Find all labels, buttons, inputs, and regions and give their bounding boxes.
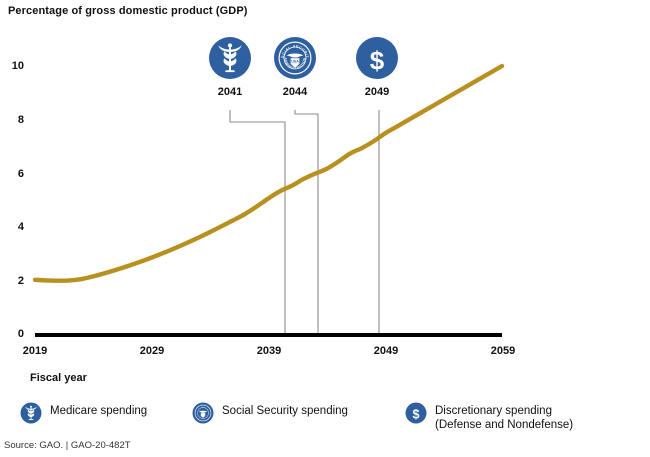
chart-legend: Medicare spending Social Security spendi… bbox=[20, 402, 640, 438]
callout-year-2044: 2044 bbox=[265, 86, 325, 98]
line-chart-svg bbox=[0, 0, 650, 392]
legend-item-discretionary: $ Discretionary spending (Defense and No… bbox=[405, 402, 573, 432]
y-tick-0: 0 bbox=[2, 328, 24, 340]
legend-item-social-security: Social Security spending bbox=[192, 402, 348, 424]
callout-discretionary: $ 2049 bbox=[355, 36, 399, 80]
legend-label-social-security: Social Security spending bbox=[222, 402, 348, 418]
y-tick-6: 6 bbox=[2, 168, 24, 180]
callout-leader-line bbox=[230, 110, 285, 335]
svg-text:$: $ bbox=[413, 408, 420, 422]
legend-label-discretionary: Discretionary spending (Defense and Nond… bbox=[435, 402, 573, 432]
svg-text:USA: USA bbox=[291, 60, 299, 64]
x-tick-2019: 2019 bbox=[5, 345, 65, 357]
x-tick-2029: 2029 bbox=[122, 345, 182, 357]
dollar-sign-icon: $ bbox=[355, 36, 399, 80]
social-security-seal-icon: SOCIAL SECURITY ADMINISTRATION USA bbox=[273, 36, 317, 80]
x-axis-title: Fiscal year bbox=[30, 372, 87, 384]
social-security-seal-icon bbox=[192, 402, 214, 424]
callout-year-2041: 2041 bbox=[200, 86, 260, 98]
svg-text:$: $ bbox=[370, 46, 385, 76]
series-line-total-spending bbox=[35, 66, 502, 281]
source-note: Source: GAO. | GAO-20-482T bbox=[4, 440, 131, 451]
y-tick-10: 10 bbox=[2, 60, 24, 72]
callout-social-security: SOCIAL SECURITY ADMINISTRATION USA 2044 bbox=[273, 36, 317, 80]
callout-medicare: 2041 bbox=[208, 36, 252, 80]
callout-year-2049: 2049 bbox=[347, 86, 407, 98]
x-tick-2049: 2049 bbox=[356, 345, 416, 357]
y-tick-8: 8 bbox=[2, 114, 24, 126]
callout-rules bbox=[230, 110, 379, 335]
legend-item-medicare: Medicare spending bbox=[20, 402, 147, 424]
x-tick-2039: 2039 bbox=[239, 345, 299, 357]
legend-label-medicare: Medicare spending bbox=[50, 402, 147, 418]
y-tick-2: 2 bbox=[2, 275, 24, 287]
chart-plot-area: 10 8 6 4 2 0 2019 2029 2039 2049 2059 Fi… bbox=[0, 0, 650, 392]
dollar-sign-icon: $ bbox=[405, 402, 427, 424]
caduceus-icon bbox=[208, 36, 252, 80]
caduceus-icon bbox=[20, 402, 42, 424]
callout-leader-line bbox=[295, 110, 318, 335]
x-tick-2059: 2059 bbox=[473, 345, 533, 357]
y-tick-4: 4 bbox=[2, 221, 24, 233]
